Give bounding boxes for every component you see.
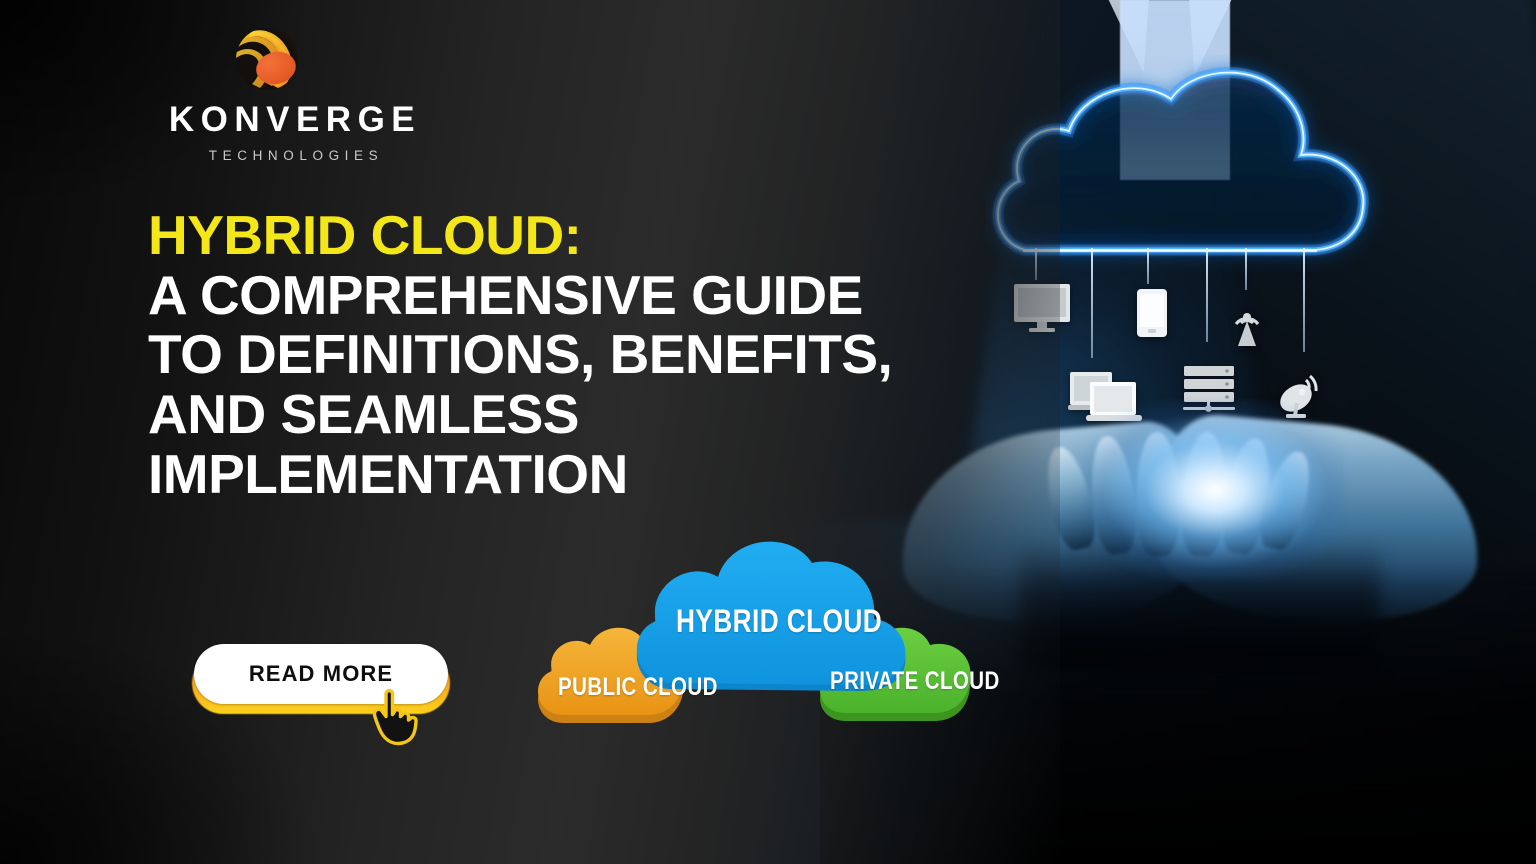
headline-line-5: IMPLEMENTATION [148,445,988,505]
headline-line-2: A COMPREHENSIVE GUIDE [148,266,988,326]
palm-light-glow [1085,400,1345,580]
headline-line-accent: HYBRID CLOUD: [148,206,988,266]
public-cloud-label: PUBLIC CLOUD [558,673,718,702]
hybrid-cloud-banner: KONVERGE TECHNOLOGIES HYBRID CLOUD: A CO… [0,0,1536,864]
headline-line-4: AND SEAMLESS [148,385,988,445]
read-more-label: READ MORE [249,661,393,687]
konverge-sphere-logo-icon [234,26,300,92]
cloud-types-diagram: PUBLIC CLOUD HYBRID CLOUD PRIVATE CLOUD [528,515,998,740]
headline-line-3: TO DEFINITIONS, BENEFITS, [148,325,988,385]
brand-tagline: TECHNOLOGIES [144,148,448,163]
mobile-phone-icon [1136,288,1168,338]
page-title: HYBRID CLOUD: A COMPREHENSIVE GUIDE TO D… [148,206,988,504]
cell-tower-icon [1224,291,1270,347]
brand-logo[interactable]: KONVERGE TECHNOLOGIES [148,26,448,163]
pointing-hand-cursor-icon [366,686,428,748]
read-more-button[interactable]: READ MORE [190,638,460,724]
brand-name: KONVERGE [142,102,448,137]
hybrid-cloud-label: HYBRID CLOUD [676,603,882,640]
private-cloud-label: PRIVATE CLOUD [830,667,1000,696]
